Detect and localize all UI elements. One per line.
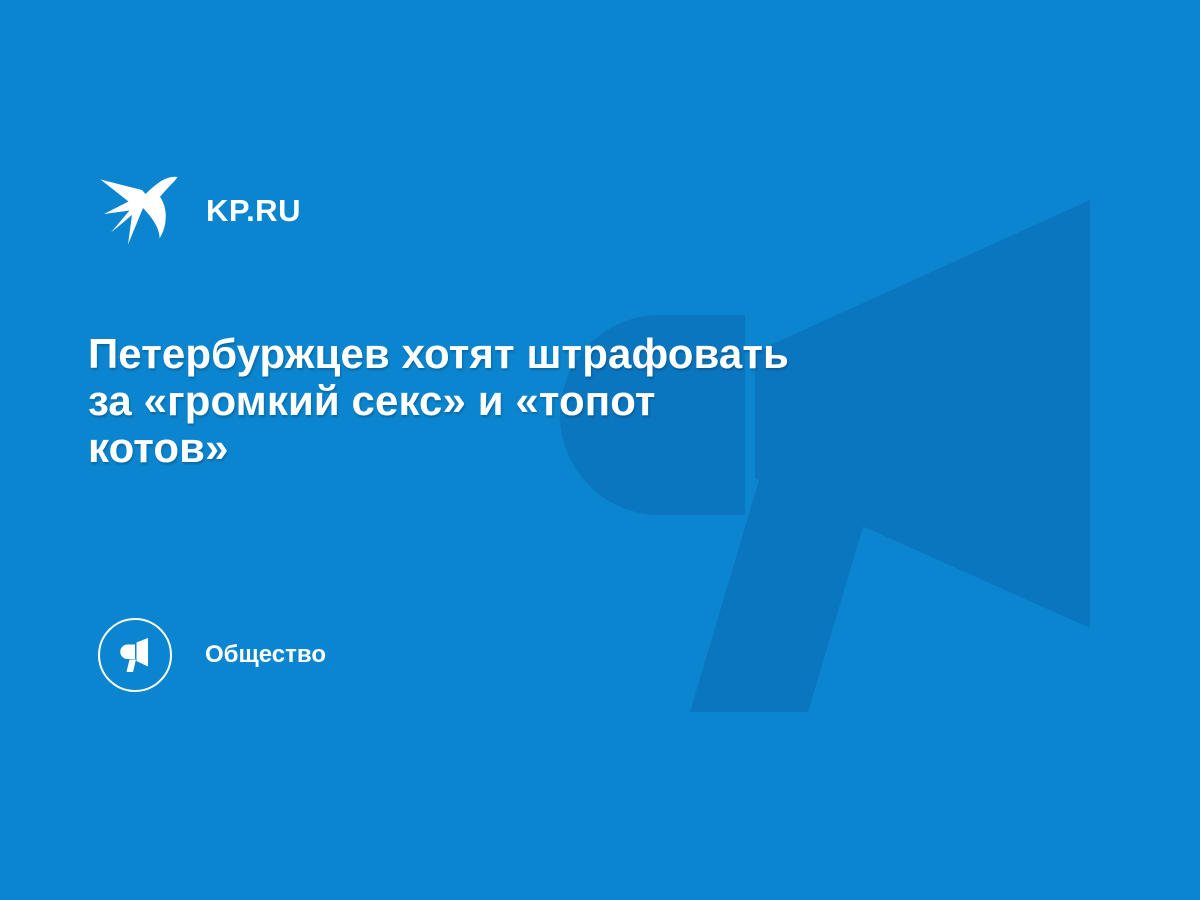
headline-line-1: Петербуржцев хотят штрафовать bbox=[88, 330, 1088, 377]
headline-line-3: котов» bbox=[88, 424, 1088, 471]
headline-line-2: за «громкий секс» и «топот bbox=[88, 377, 1088, 424]
megaphone-icon bbox=[115, 635, 155, 675]
article-headline: Петербуржцев хотят штрафовать за «громки… bbox=[88, 330, 1088, 471]
category-icon-circle bbox=[98, 618, 172, 692]
cover-content: KP.RU Петербуржцев хотят штрафовать за «… bbox=[0, 0, 1200, 900]
category-label-text: Общество bbox=[205, 643, 326, 667]
brand-name-text: KP.RU bbox=[206, 195, 301, 226]
brand-logo-row[interactable]: KP.RU bbox=[98, 172, 301, 248]
category-badge[interactable]: Общество bbox=[98, 618, 326, 692]
article-cover-card: KP.RU Петербуржцев хотят штрафовать за «… bbox=[0, 0, 1200, 900]
swallow-bird-icon bbox=[98, 174, 180, 246]
